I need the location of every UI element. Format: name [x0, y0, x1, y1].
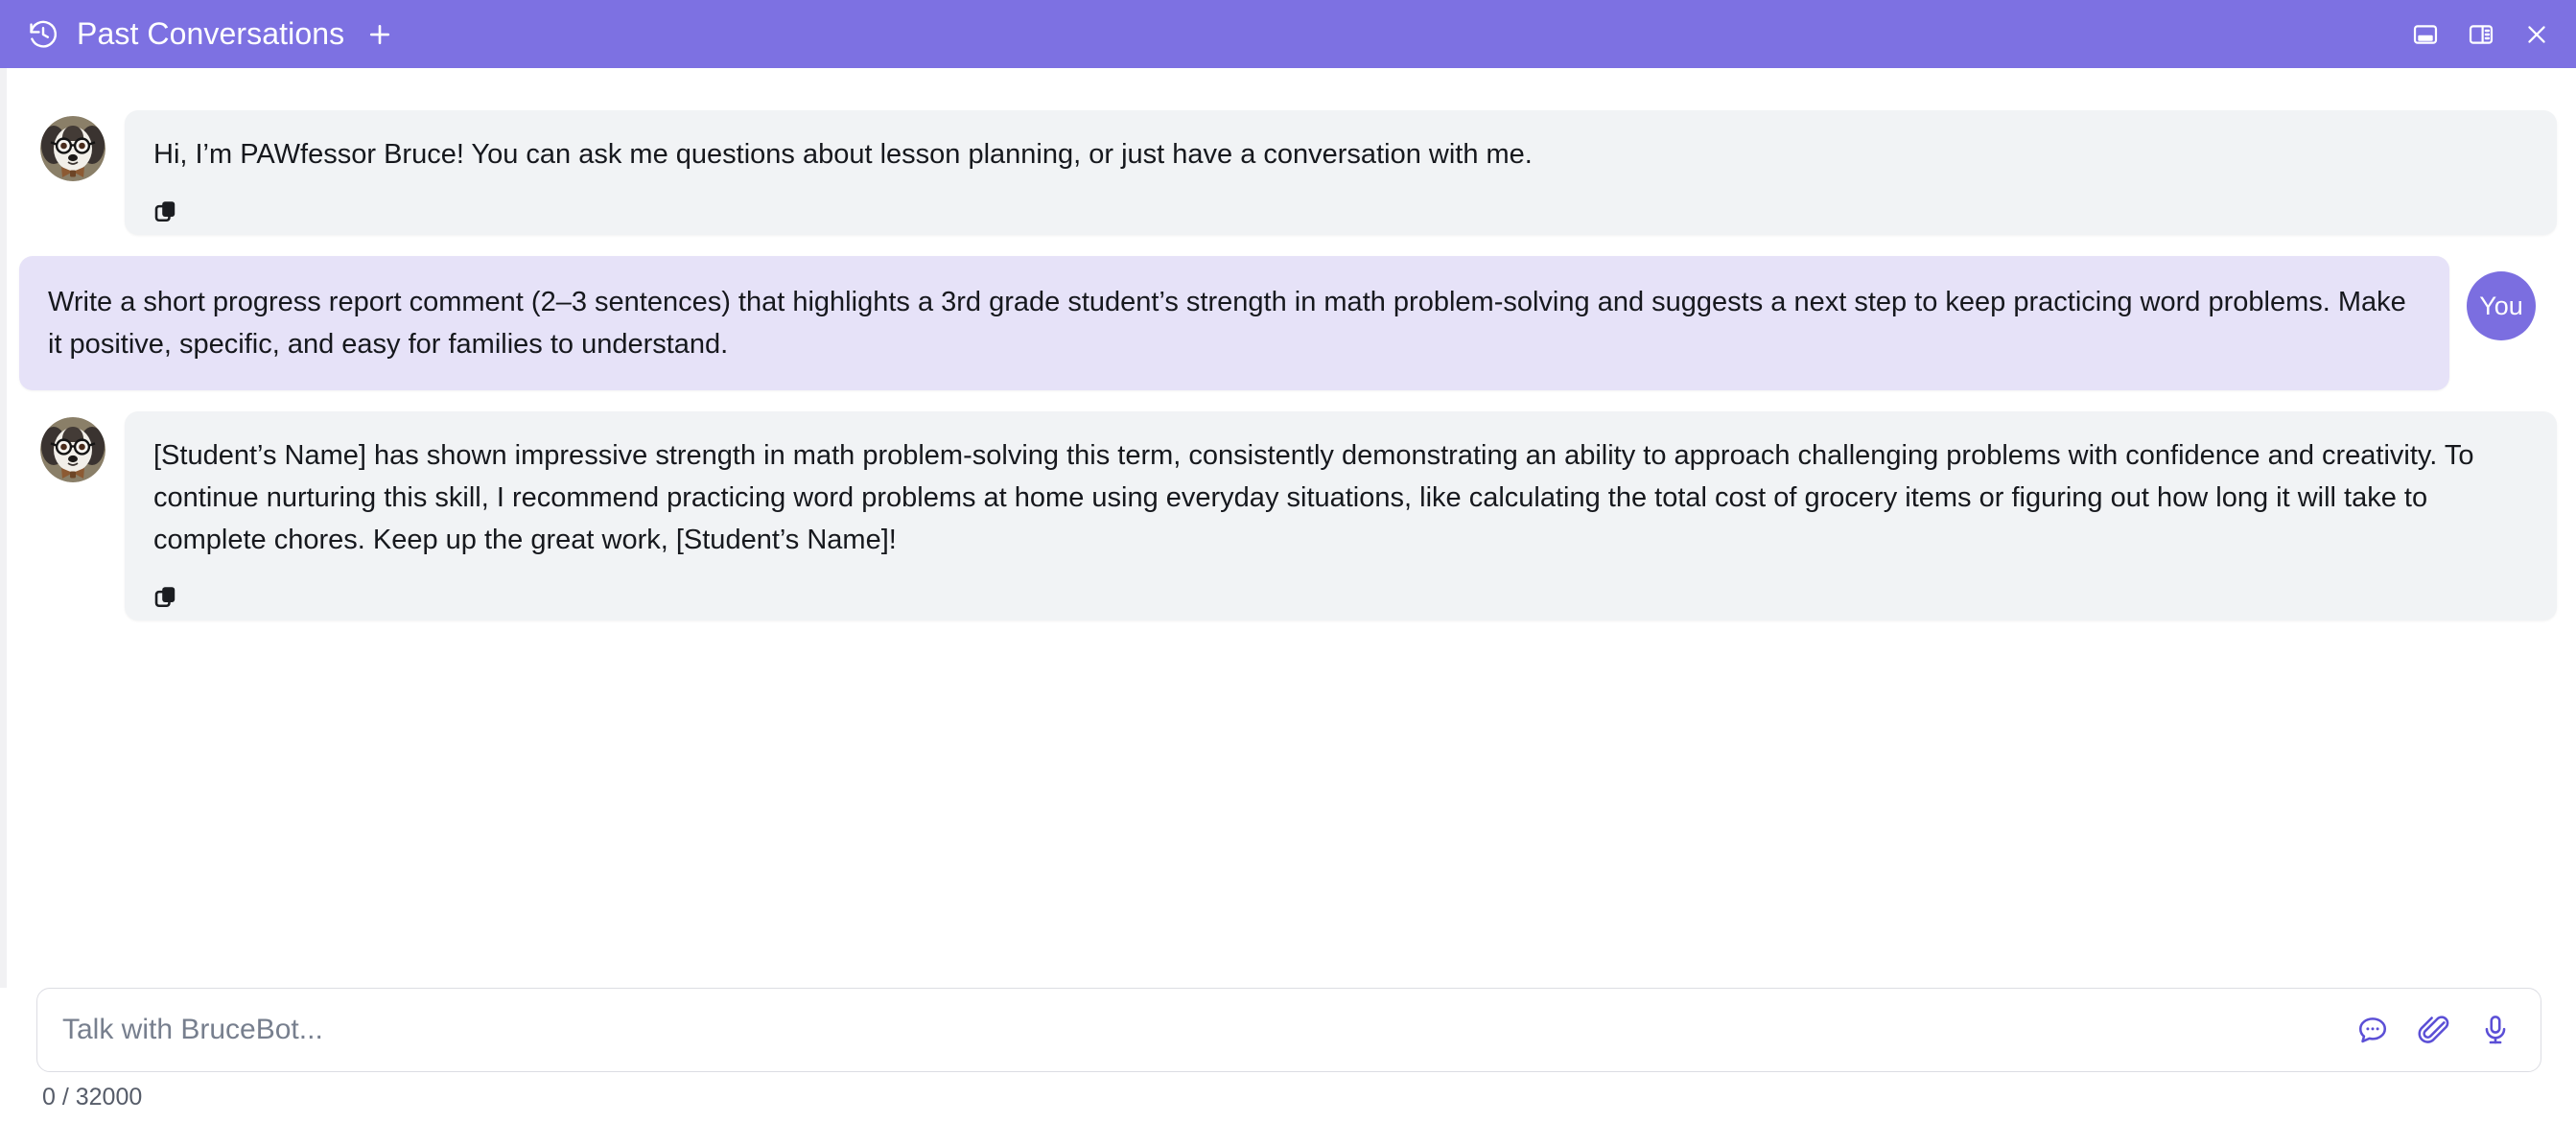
- microphone-icon[interactable]: [2477, 1012, 2514, 1048]
- scrollbar-track[interactable]: [0, 68, 7, 988]
- message-row-assistant-greeting: Hi, I’m PAWfessor Bruce! You can ask me …: [19, 110, 2557, 235]
- close-icon[interactable]: [2522, 20, 2551, 49]
- titlebar: Past Conversations: [0, 0, 2576, 68]
- window-controls: [2411, 20, 2551, 49]
- character-counter: 0 / 32000: [36, 1072, 2541, 1122]
- brucebot-chat-window: Past Conversations: [0, 0, 2576, 1122]
- composer-area: 0 / 32000: [0, 988, 2576, 1122]
- assistant-message-bubble: Hi, I’m PAWfessor Bruce! You can ask me …: [125, 110, 2557, 235]
- pawfessor-bruce-avatar: [40, 116, 105, 181]
- user-message-bubble: Write a short progress report comment (2…: [19, 256, 2449, 390]
- minimize-to-dock-icon[interactable]: [2411, 20, 2440, 49]
- attachment-paperclip-icon[interactable]: [2416, 1012, 2452, 1048]
- page-title: Past Conversations: [77, 16, 344, 52]
- plus-icon[interactable]: [363, 18, 396, 51]
- titlebar-left-group: Past Conversations: [27, 16, 396, 52]
- user-message-text: Write a short progress report comment (2…: [48, 281, 2417, 365]
- copy-icon[interactable]: [153, 579, 178, 604]
- conversation-scroll-area[interactable]: Hi, I’m PAWfessor Bruce! You can ask me …: [0, 68, 2576, 988]
- chat-bubble-icon[interactable]: [2354, 1012, 2391, 1048]
- message-actions: [153, 193, 2528, 220]
- avatar-you: You: [2467, 271, 2536, 340]
- message-actions: [153, 578, 2528, 605]
- composer-actions: [2354, 1012, 2514, 1048]
- message-row-assistant-reply: [Student’s Name] has shown impressive st…: [19, 411, 2557, 620]
- composer-box[interactable]: [36, 988, 2541, 1072]
- assistant-message-text: [Student’s Name] has shown impressive st…: [153, 434, 2528, 561]
- copy-icon[interactable]: [153, 194, 178, 219]
- pawfessor-bruce-avatar: [40, 417, 105, 482]
- message-input[interactable]: [62, 1014, 2337, 1046]
- assistant-message-bubble: [Student’s Name] has shown impressive st…: [125, 411, 2557, 620]
- history-clock-rewind-icon[interactable]: [27, 18, 59, 51]
- message-row-user: Write a short progress report comment (2…: [19, 256, 2557, 390]
- toggle-sidebar-layout-icon[interactable]: [2467, 20, 2495, 49]
- assistant-message-text: Hi, I’m PAWfessor Bruce! You can ask me …: [153, 133, 2528, 175]
